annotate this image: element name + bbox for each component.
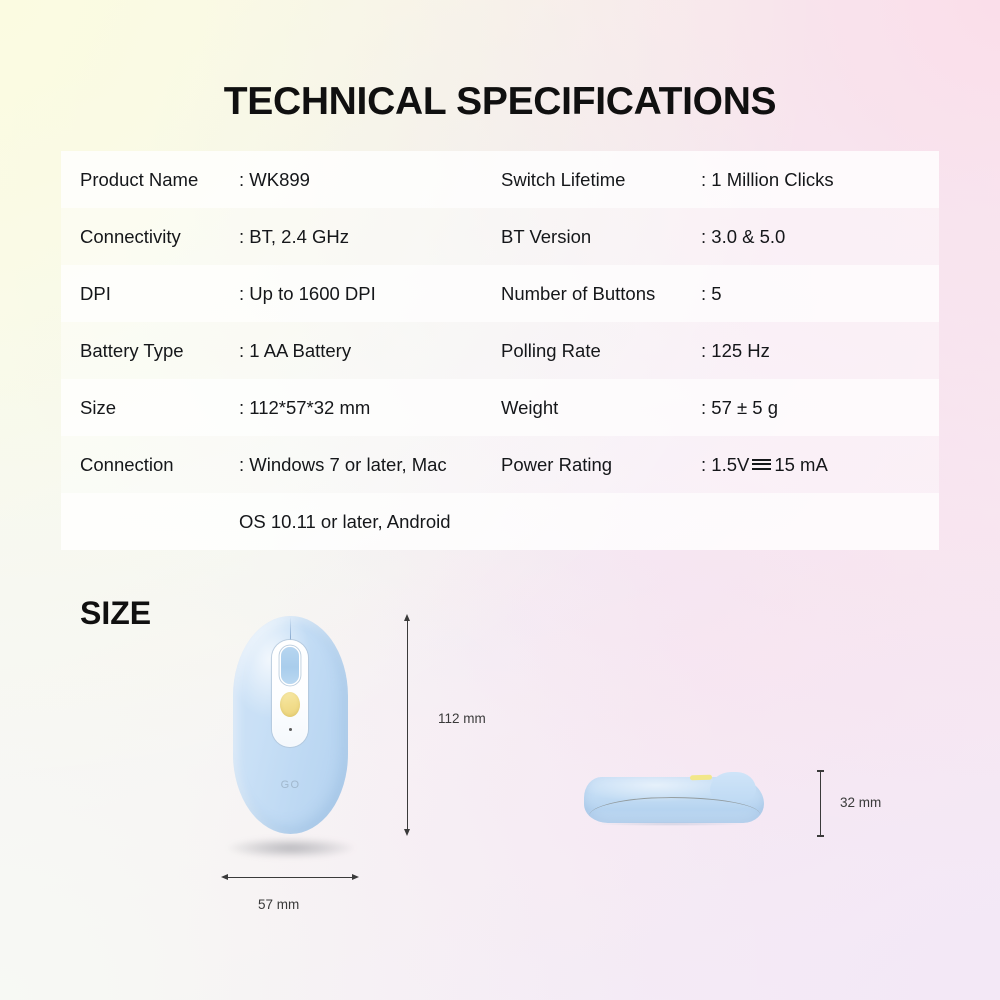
table-row: DPI : Up to 1600 DPI Number of Buttons :… <box>61 265 939 322</box>
spec-label-cell: Switch Lifetime <box>501 151 701 208</box>
dc-power-symbol-icon <box>752 459 771 471</box>
dimension-line-height-32 <box>820 771 821 836</box>
spec-label-cell: Power Rating <box>501 436 701 493</box>
dimension-arrow-left-icon <box>221 874 228 880</box>
scroll-wheel-icon <box>281 647 299 684</box>
table-row: OS 10.11 or later, Android <box>61 493 939 550</box>
spec-label: Connection <box>80 454 174 476</box>
spec-value-cell: OS 10.11 or later, Android <box>239 493 501 550</box>
spec-value-cell: : BT, 2.4 GHz <box>239 208 501 265</box>
dimension-cap-top-icon <box>817 770 824 772</box>
spec-value-cell: : 57 ± 5 g <box>701 379 920 436</box>
dimension-line-width-57 <box>226 877 354 878</box>
dimension-label-width-57: 57 mm <box>258 897 299 912</box>
spec-value-prefix: : 1.5V <box>701 454 749 476</box>
spec-label: Size <box>80 397 116 419</box>
spec-label-cell: Product Name <box>61 151 239 208</box>
table-row: Battery Type : 1 AA Battery Polling Rate… <box>61 322 939 379</box>
mouse-top-view-illustration: GO <box>233 616 348 834</box>
dimension-cap-bottom-icon <box>817 835 824 837</box>
mouse-top-view-shadow <box>227 838 355 858</box>
spec-value: : 1 AA Battery <box>239 340 351 362</box>
spec-label-cell: Polling Rate <box>501 322 701 379</box>
table-row: Product Name : WK899 Switch Lifetime : 1… <box>61 151 939 208</box>
technical-specifications-table: Product Name : WK899 Switch Lifetime : 1… <box>61 151 939 550</box>
spec-value-suffix: 15 mA <box>774 454 827 476</box>
spec-value: : WK899 <box>239 169 310 191</box>
spec-value-cell: : 112*57*32 mm <box>239 379 501 436</box>
dimension-arrow-right-icon <box>352 874 359 880</box>
spec-label: Battery Type <box>80 340 184 362</box>
spec-label-cell <box>501 493 701 550</box>
table-row: Size : 112*57*32 mm Weight : 57 ± 5 g <box>61 379 939 436</box>
mouse-side-view-illustration <box>584 769 776 824</box>
spec-label-cell: Size <box>61 379 239 436</box>
spec-label: Product Name <box>80 169 198 191</box>
spec-label: BT Version <box>501 226 591 248</box>
spec-label: Weight <box>501 397 558 419</box>
spec-label: DPI <box>80 283 111 305</box>
spec-value-cell: : WK899 <box>239 151 501 208</box>
dimension-label-height-112: 112 mm <box>438 711 486 726</box>
spec-value-cell: : Windows 7 or later, Mac <box>239 436 501 493</box>
spec-value-cell: : 1.5V 15 mA <box>701 436 920 493</box>
page-title: TECHNICAL SPECIFICATIONS <box>0 80 1000 124</box>
spec-value-cell: : Up to 1600 DPI <box>239 265 501 322</box>
mouse-side-shadow <box>596 822 746 826</box>
spec-value: : 57 ± 5 g <box>701 397 778 419</box>
spec-value: : 125 Hz <box>701 340 770 362</box>
spec-label-cell: Battery Type <box>61 322 239 379</box>
spec-label-cell: BT Version <box>501 208 701 265</box>
spec-label-cell: Connectivity <box>61 208 239 265</box>
spec-value: : 1 Million Clicks <box>701 169 834 191</box>
spec-label: Connectivity <box>80 226 181 248</box>
status-led-icon <box>289 728 292 731</box>
spec-label: Polling Rate <box>501 340 601 362</box>
dpi-button-icon <box>280 692 300 717</box>
spec-label-cell: Connection <box>61 436 239 493</box>
dimension-arrow-down-icon <box>404 829 410 836</box>
spec-value-cell: : 3.0 & 5.0 <box>701 208 920 265</box>
spec-label: Power Rating <box>501 454 612 476</box>
mouse-brand-logo: GO <box>233 779 348 791</box>
dimension-arrow-up-icon <box>404 614 410 621</box>
spec-value-cell: : 1 Million Clicks <box>701 151 920 208</box>
spec-value: : Windows 7 or later, Mac <box>239 454 447 476</box>
spec-label: Number of Buttons <box>501 283 655 305</box>
spec-value: : 3.0 & 5.0 <box>701 226 785 248</box>
spec-label: Switch Lifetime <box>501 169 625 191</box>
spec-value: : 5 <box>701 283 722 305</box>
spec-value-cell <box>701 493 920 550</box>
table-row: Connectivity : BT, 2.4 GHz BT Version : … <box>61 208 939 265</box>
size-section-heading: SIZE <box>80 595 151 632</box>
dimension-line-height-112 <box>407 619 408 830</box>
mouse-side-rear-hump <box>710 772 756 802</box>
spec-label-cell: DPI <box>61 265 239 322</box>
table-row: Connection : Windows 7 or later, Mac Pow… <box>61 436 939 493</box>
mouse-side-dpi-button-icon <box>690 775 712 781</box>
spec-value-cell: : 5 <box>701 265 920 322</box>
spec-value: : Up to 1600 DPI <box>239 283 376 305</box>
spec-value-cell: : 125 Hz <box>701 322 920 379</box>
spec-value: : 112*57*32 mm <box>239 397 370 419</box>
dimension-label-height-32: 32 mm <box>840 795 881 810</box>
spec-value-cell: : 1 AA Battery <box>239 322 501 379</box>
mouse-center-strip <box>272 640 308 747</box>
spec-label-cell <box>61 493 239 550</box>
spec-value: : BT, 2.4 GHz <box>239 226 349 248</box>
spec-label-cell: Number of Buttons <box>501 265 701 322</box>
spec-label-cell: Weight <box>501 379 701 436</box>
spec-value-continuation: OS 10.11 or later, Android <box>239 511 451 533</box>
product-spec-page: TECHNICAL SPECIFICATIONS Product Name : … <box>0 0 1000 1000</box>
